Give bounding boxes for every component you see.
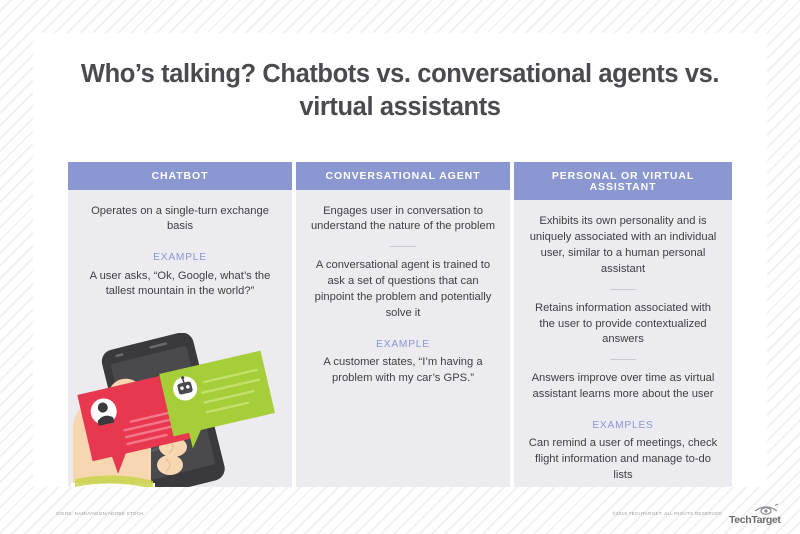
copyright-text: ©2019 TECHTARGET. ALL RIGHTS RESERVED	[612, 511, 722, 518]
paragraph-divider	[610, 359, 636, 360]
footer-branding: ©2019 TECHTARGET. ALL RIGHTS RESERVED Te…	[612, 503, 783, 525]
column-header-conversational-agent: CONVERSATIONAL AGENT	[296, 162, 510, 190]
column-paragraph: Answers improve over time as virtual ass…	[528, 371, 718, 403]
paragraph-divider	[390, 246, 416, 247]
example-text: Can remind a user of meetings, check fli…	[528, 436, 718, 484]
infographic-card: Who’s talking? Chatbots vs. conversation…	[33, 33, 767, 487]
column-paragraph: Operates on a single-turn exchange basis	[82, 204, 278, 236]
column-personal-virtual-assistant: PERSONAL OR VIRTUAL ASSISTANT Exhibits i…	[514, 162, 732, 487]
column-body-personal-virtual-assistant: Exhibits its own personality and is uniq…	[514, 200, 732, 487]
column-header-personal-virtual-assistant: PERSONAL OR VIRTUAL ASSISTANT	[514, 162, 732, 200]
column-header-chatbot: CHATBOT	[68, 162, 292, 190]
techtarget-wordmark: TechTarget	[729, 515, 781, 526]
column-body-conversational-agent: Engages user in conversation to understa…	[296, 190, 510, 488]
example-label: EXAMPLE	[310, 340, 496, 350]
page-title: Who’s talking? Chatbots vs. conversation…	[63, 58, 737, 123]
column-paragraph: Retains information associated with the …	[528, 301, 718, 349]
techtarget-logo: TechTarget	[729, 503, 783, 525]
column-paragraph: Engages user in conversation to understa…	[310, 204, 496, 236]
example-text: A user asks, “Ok, Google, what’s the tal…	[82, 269, 278, 301]
photo-credit: SIGNS: NAMUVISION/ADOBE STOCK	[56, 511, 144, 516]
hand-holding-phone-illustration	[69, 333, 291, 487]
column-paragraph: Exhibits its own personality and is uniq…	[528, 214, 718, 278]
paragraph-divider	[610, 289, 636, 290]
example-label: EXAMPLE	[82, 253, 278, 263]
column-paragraph: A conversational agent is trained to ask…	[310, 258, 496, 322]
column-conversational-agent: CONVERSATIONAL AGENT Engages user in con…	[296, 162, 510, 487]
example-text: A customer states, “I’m having a problem…	[310, 355, 496, 387]
examples-label: EXAMPLES	[528, 421, 718, 431]
